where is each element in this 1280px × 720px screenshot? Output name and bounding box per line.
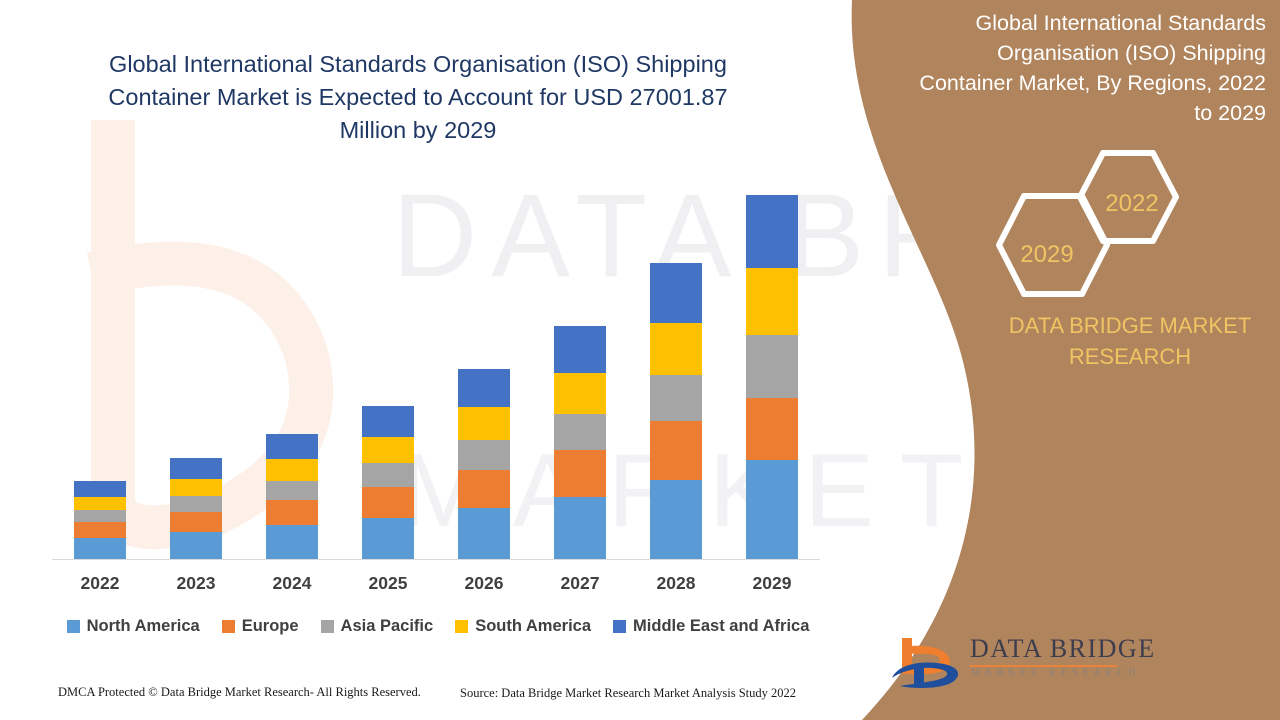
legend-item-asia-pacific[interactable]: Asia Pacific bbox=[321, 617, 434, 636]
bar-segment-europe bbox=[554, 450, 606, 497]
stacked-bar bbox=[746, 195, 798, 559]
x-axis-label-2026: 2026 bbox=[436, 573, 532, 594]
bar-segment-north-america bbox=[458, 508, 510, 559]
x-axis-label-2022: 2022 bbox=[52, 573, 148, 594]
bar-segment-asia-pacific bbox=[650, 375, 702, 421]
bar-segment-south-america bbox=[554, 373, 606, 414]
legend-item-south-america[interactable]: South America bbox=[455, 617, 591, 636]
x-axis-label-2028: 2028 bbox=[628, 573, 724, 594]
bar-segment-asia-pacific bbox=[746, 335, 798, 398]
bar-segment-middle-east-and-africa bbox=[266, 434, 318, 459]
bar-segment-north-america bbox=[170, 532, 222, 559]
bar-column-2025 bbox=[340, 170, 436, 559]
bar-segment-south-america bbox=[170, 479, 222, 497]
x-axis-label-2023: 2023 bbox=[148, 573, 244, 594]
bar-segment-middle-east-and-africa bbox=[170, 458, 222, 478]
bar-segment-asia-pacific bbox=[74, 510, 126, 522]
bar-segment-middle-east-and-africa bbox=[458, 369, 510, 407]
bar-segment-north-america bbox=[74, 538, 126, 559]
bar-column-2028 bbox=[628, 170, 724, 559]
legend-label: Asia Pacific bbox=[341, 617, 434, 636]
bar-segment-europe bbox=[170, 512, 222, 532]
logo-wordmark: DATA BRIDGE bbox=[970, 634, 1156, 664]
hexagon-badge-start-year: 2022 bbox=[1075, 148, 1181, 246]
bar-column-2023 bbox=[148, 170, 244, 559]
x-axis-label-2025: 2025 bbox=[340, 573, 436, 594]
legend-swatch-icon bbox=[455, 620, 468, 633]
x-axis-line bbox=[52, 559, 820, 560]
legend-item-middle-east-and-africa[interactable]: Middle East and Africa bbox=[613, 617, 809, 636]
bar-segment-north-america bbox=[650, 480, 702, 559]
bar-segment-europe bbox=[650, 421, 702, 480]
legend-label: Europe bbox=[242, 617, 299, 636]
logo-subtitle: MARKET RESEARCH bbox=[971, 668, 1141, 678]
bar-segment-europe bbox=[746, 398, 798, 460]
legend-label: South America bbox=[475, 617, 591, 636]
bar-segment-asia-pacific bbox=[170, 496, 222, 512]
legend-label: Middle East and Africa bbox=[633, 617, 809, 636]
bar-segment-europe bbox=[74, 522, 126, 538]
bar-segment-south-america bbox=[362, 437, 414, 464]
bar-segment-south-america bbox=[266, 459, 318, 481]
legend-label: North America bbox=[87, 617, 200, 636]
legend-swatch-icon bbox=[321, 620, 334, 633]
bar-column-2027 bbox=[532, 170, 628, 559]
panel-brand-name: DATA BRIDGE MARKET RESEARCH bbox=[985, 310, 1275, 372]
x-axis-label-2029: 2029 bbox=[724, 573, 820, 594]
footer-source-note: Source: Data Bridge Market Research Mark… bbox=[460, 686, 796, 701]
infographic-canvas: DATA BRIDGE MARKET RESEARCH Global Inter… bbox=[0, 0, 1280, 720]
bar-column-2024 bbox=[244, 170, 340, 559]
bar-column-2029 bbox=[724, 170, 820, 559]
bar-segment-south-america bbox=[650, 323, 702, 375]
stacked-bar bbox=[266, 434, 318, 559]
x-axis-label-2024: 2024 bbox=[244, 573, 340, 594]
bar-segment-europe bbox=[458, 470, 510, 508]
bar-segment-middle-east-and-africa bbox=[746, 195, 798, 269]
footer-dmca-notice: DMCA Protected © Data Bridge Market Rese… bbox=[58, 685, 421, 700]
bar-segment-asia-pacific bbox=[266, 481, 318, 500]
bar-segment-asia-pacific bbox=[362, 463, 414, 487]
bar-segment-middle-east-and-africa bbox=[554, 326, 606, 373]
legend-swatch-icon bbox=[67, 620, 80, 633]
bar-segment-north-america bbox=[554, 497, 606, 559]
bar-segment-asia-pacific bbox=[458, 440, 510, 470]
bar-segment-middle-east-and-africa bbox=[650, 263, 702, 323]
bar-column-2022 bbox=[52, 170, 148, 559]
bar-column-2026 bbox=[436, 170, 532, 559]
stacked-bar bbox=[362, 406, 414, 559]
bar-segment-middle-east-and-africa bbox=[74, 481, 126, 497]
bar-segment-north-america bbox=[362, 518, 414, 559]
legend-item-north-america[interactable]: North America bbox=[67, 617, 200, 636]
bar-segment-europe bbox=[266, 500, 318, 525]
bar-segment-europe bbox=[362, 487, 414, 518]
legend-swatch-icon bbox=[613, 620, 626, 633]
chart-plot-area bbox=[52, 170, 820, 560]
legend-item-europe[interactable]: Europe bbox=[222, 617, 299, 636]
legend-swatch-icon bbox=[222, 620, 235, 633]
bar-segment-south-america bbox=[746, 268, 798, 335]
databridge-logo: DATA BRIDGE MARKET RESEARCH bbox=[888, 632, 1118, 694]
hexagon-start-year-label: 2022 bbox=[1105, 190, 1158, 218]
x-axis-labels: 20222023202420252026202720282029 bbox=[52, 573, 820, 594]
stacked-bar bbox=[554, 326, 606, 559]
page-title: Global International Standards Organisat… bbox=[78, 48, 758, 147]
chart-legend: North AmericaEuropeAsia PacificSouth Ame… bbox=[52, 617, 824, 636]
bar-segment-south-america bbox=[458, 407, 510, 440]
bar-segment-north-america bbox=[746, 460, 798, 559]
logo-divider bbox=[970, 665, 1117, 667]
bar-segment-north-america bbox=[266, 525, 318, 559]
stacked-bar bbox=[74, 481, 126, 559]
panel-title: Global International Standards Organisat… bbox=[906, 8, 1266, 128]
bar-segment-asia-pacific bbox=[554, 414, 606, 450]
stacked-bar bbox=[650, 263, 702, 559]
stacked-bar bbox=[458, 369, 510, 559]
bar-segment-middle-east-and-africa bbox=[362, 406, 414, 437]
stacked-bar bbox=[170, 458, 222, 559]
x-axis-label-2027: 2027 bbox=[532, 573, 628, 594]
stacked-bar-group bbox=[52, 170, 820, 559]
hexagon-end-year-label: 2029 bbox=[1020, 241, 1073, 269]
bar-segment-south-america bbox=[74, 497, 126, 511]
